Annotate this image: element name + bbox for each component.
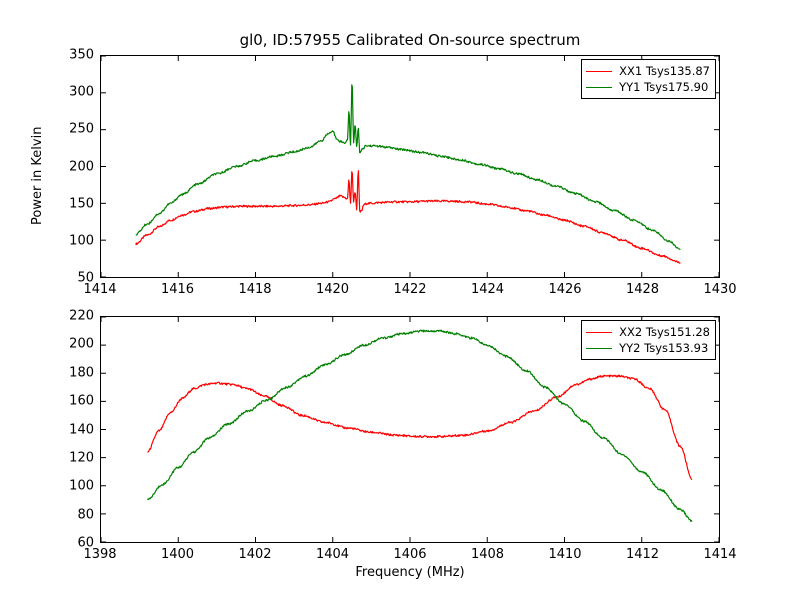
legend-label-yy1: YY1 Tsys175.90 [619,80,708,94]
xtick-label: 1414 [703,547,736,562]
legend-top: XX1 Tsys135.87 YY1 Tsys175.90 [581,59,716,99]
legend-label-xx1: XX1 Tsys135.87 [619,64,710,78]
xtick-label: 1420 [316,282,349,297]
xtick-label: 1400 [161,547,194,562]
figure-canvas: gl0, ID:57955 Calibrated On-source spect… [0,0,800,600]
xtick-label: 1424 [471,282,504,297]
ytick-label: 60 [77,536,94,551]
ytick-label: 160 [69,394,94,409]
ytick-label: 50 [77,271,94,286]
series-line [136,171,681,263]
legend-label-xx2: XX2 Tsys151.28 [619,325,710,339]
xtick-label: 1416 [161,282,194,297]
xtick-label: 1428 [626,282,659,297]
legend-swatch-yy1 [586,87,612,88]
ytick-label: 300 [69,85,94,100]
xtick-label: 1426 [548,282,581,297]
xtick-label: 1408 [471,547,504,562]
legend-entry-xx1[interactable]: XX1 Tsys135.87 [586,63,710,79]
xtick-label: 1430 [703,282,736,297]
ytick-label: 100 [69,233,94,248]
ytick-label: 80 [77,507,94,522]
xtick-label: 1402 [238,547,271,562]
xtick-label: 1404 [316,547,349,562]
legend-swatch-yy2 [586,348,612,349]
bottom-spectrum-plot: XX2 Tsys151.28 YY2 Tsys153.93 [100,316,720,543]
legend-bottom: XX2 Tsys151.28 YY2 Tsys153.93 [581,320,716,360]
legend-entry-yy2[interactable]: YY2 Tsys153.93 [586,340,710,356]
legend-swatch-xx1 [586,71,612,72]
figure-title: gl0, ID:57955 Calibrated On-source spect… [0,31,800,49]
ytick-label: 200 [69,159,94,174]
xtick-label: 1410 [548,547,581,562]
series-line [136,85,681,250]
ytick-label: 180 [69,365,94,380]
ytick-label: 350 [69,48,94,63]
xtick-label: 1412 [626,547,659,562]
ytick-label: 120 [69,450,94,465]
top-spectrum-plot: XX1 Tsys135.87 YY1 Tsys175.90 [100,55,720,278]
legend-label-yy2: YY2 Tsys153.93 [619,341,708,355]
legend-entry-yy1[interactable]: YY1 Tsys175.90 [586,79,710,95]
y-axis-label-top: Power in Kelvin [30,127,45,225]
ytick-label: 250 [69,122,94,137]
xtick-label: 1418 [238,282,271,297]
ytick-label: 200 [69,337,94,352]
ytick-label: 150 [69,196,94,211]
ytick-label: 220 [69,309,94,324]
xtick-label: 1406 [393,547,426,562]
ytick-label: 100 [69,479,94,494]
xtick-label: 1422 [393,282,426,297]
series-line [147,375,692,480]
ytick-label: 140 [69,422,94,437]
legend-entry-xx2[interactable]: XX2 Tsys151.28 [586,324,710,340]
x-axis-label-bottom: Frequency (MHz) [100,565,720,580]
legend-swatch-xx2 [586,332,612,333]
